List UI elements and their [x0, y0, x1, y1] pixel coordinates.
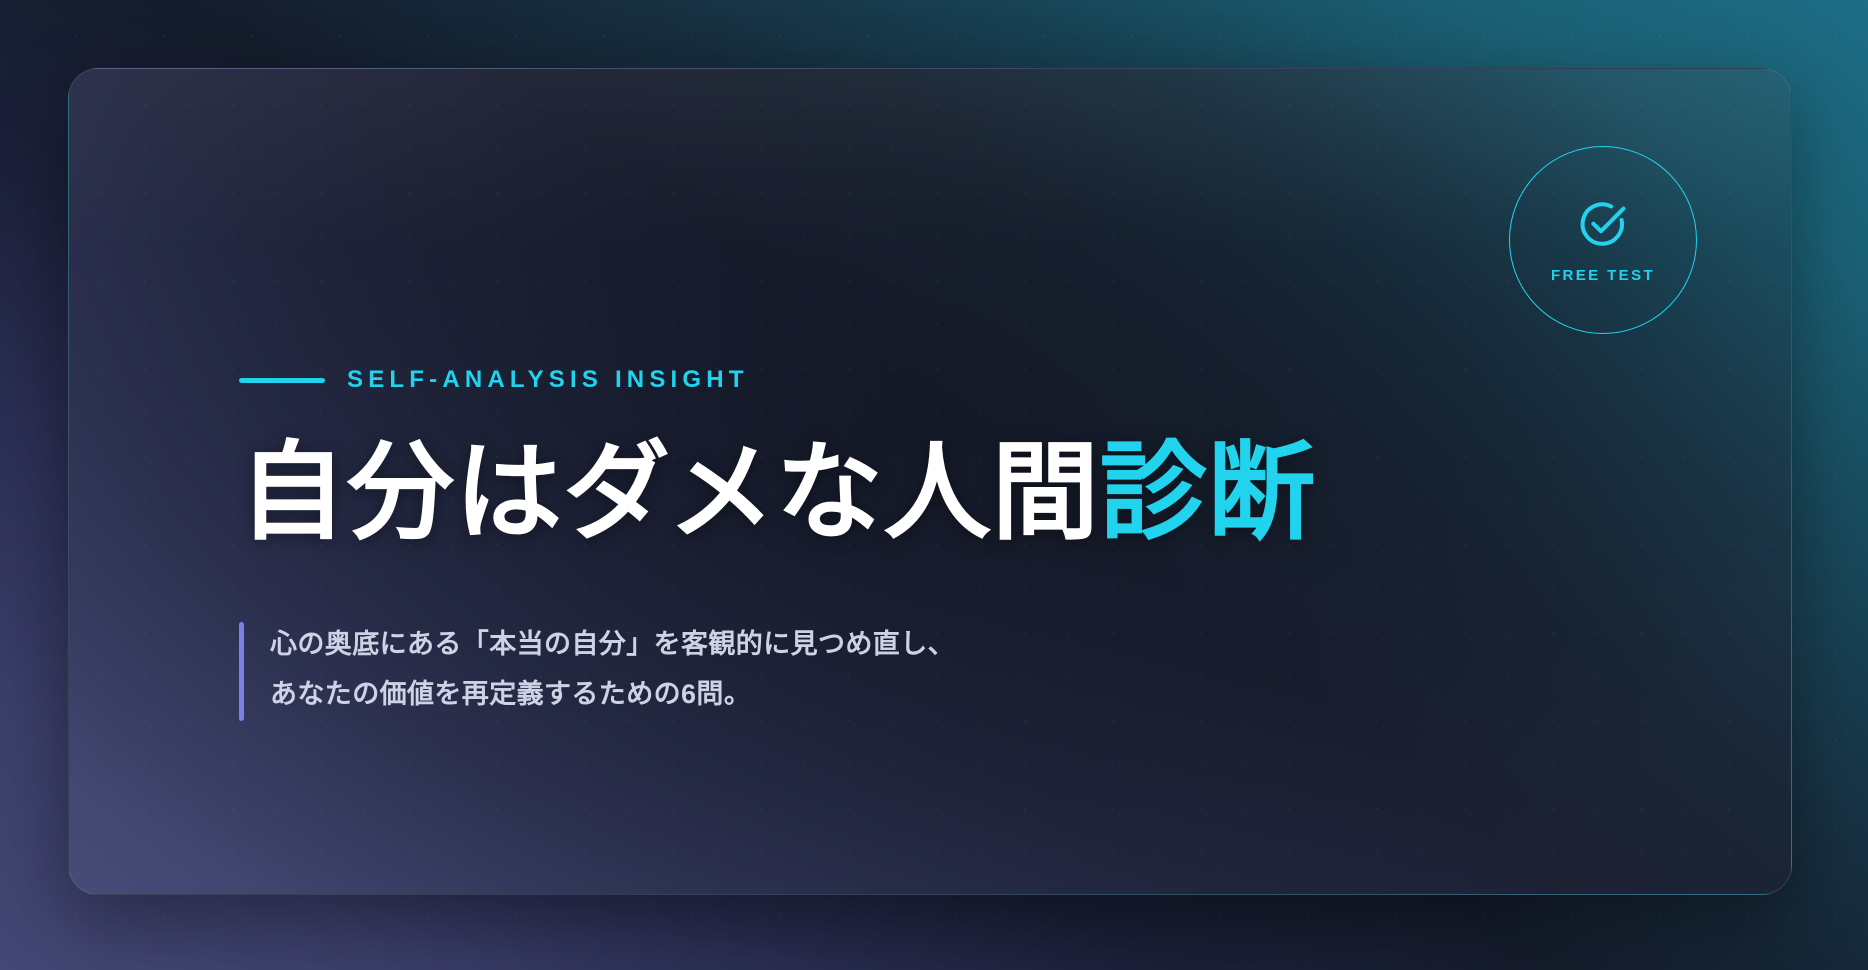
subtitle-line-1: 心の奥底にある「本当の自分」を客観的に見つめ直し、 — [270, 624, 955, 665]
hero-content: SELF-ANALYSIS INSIGHT 自分はダメな人間診断 心の奥底にある… — [173, 69, 1373, 894]
free-test-badge-label: FREE TEST — [1551, 267, 1655, 284]
page-title-accent: 診断 — [1100, 432, 1316, 552]
subtitle-lines: 心の奥底にある「本当の自分」を客観的に見つめ直し、 あなたの価値を再定義するため… — [270, 622, 955, 721]
subtitle-accent-bar — [239, 622, 244, 721]
eyebrow: SELF-ANALYSIS INSIGHT — [239, 366, 749, 394]
page-title-main: 自分はダメな人間 — [239, 432, 1100, 552]
subtitle: 心の奥底にある「本当の自分」を客観的に見つめ直し、 あなたの価値を再定義するため… — [239, 622, 955, 721]
subtitle-line-2: あなたの価値を再定義するための6問。 — [270, 674, 955, 715]
check-circle-icon — [1576, 197, 1630, 251]
eyebrow-dash-icon — [239, 378, 325, 383]
free-test-badge[interactable]: FREE TEST — [1509, 146, 1697, 334]
page-title: 自分はダメな人間診断 — [239, 429, 1316, 555]
hero-card: SELF-ANALYSIS INSIGHT 自分はダメな人間診断 心の奥底にある… — [68, 68, 1792, 895]
eyebrow-label: SELF-ANALYSIS INSIGHT — [347, 366, 749, 394]
